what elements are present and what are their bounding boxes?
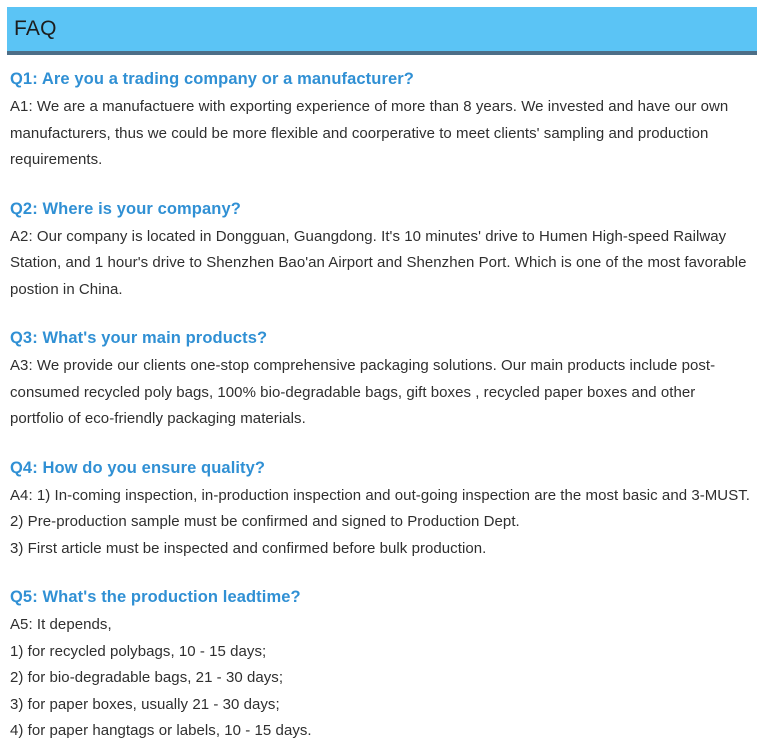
faq-header-band: FAQ — [7, 7, 757, 55]
faq-answer-line: 2) for bio-degradable bags, 21 - 30 days… — [10, 665, 752, 692]
faq-answer: A3: We provide our clients one-stop comp… — [10, 353, 752, 433]
faq-answer-line: 2) Pre-production sample must be confirm… — [10, 509, 752, 536]
faq-item: Q2: Where is your company?A2: Our compan… — [10, 198, 752, 304]
faq-answer-line: A1: We are a manufactuere with exporting… — [10, 94, 752, 174]
faq-item: Q4: How do you ensure quality?A4: 1) In-… — [10, 457, 752, 563]
faq-question: Q3: What's your main products? — [10, 327, 752, 349]
faq-answer-line: 4) for paper hangtags or labels, 10 - 15… — [10, 718, 752, 745]
faq-list: Q1: Are you a trading company or a manuf… — [10, 68, 752, 745]
faq-answer-line: A4: 1) In-coming inspection, in-producti… — [10, 483, 752, 510]
faq-answer: A2: Our company is located in Dongguan, … — [10, 224, 752, 304]
faq-question: Q5: What's the production leadtime? — [10, 586, 752, 608]
faq-item: Q3: What's your main products?A3: We pro… — [10, 327, 752, 433]
faq-item: Q5: What's the production leadtime?A5: I… — [10, 586, 752, 745]
faq-question: Q1: Are you a trading company or a manuf… — [10, 68, 752, 90]
faq-answer-line: A5: It depends, — [10, 612, 752, 639]
faq-item: Q1: Are you a trading company or a manuf… — [10, 68, 752, 174]
faq-answer: A5: It depends,1) for recycled polybags,… — [10, 612, 752, 745]
faq-page: FAQ Q1: Are you a trading company or a m… — [0, 0, 765, 748]
faq-answer-line: 1) for recycled polybags, 10 - 15 days; — [10, 639, 752, 666]
faq-answer-line: 3) for paper boxes, usually 21 - 30 days… — [10, 692, 752, 719]
faq-answer-line: 3) First article must be inspected and c… — [10, 536, 752, 563]
page-title: FAQ — [14, 16, 57, 42]
faq-question: Q4: How do you ensure quality? — [10, 457, 752, 479]
faq-answer-line: A3: We provide our clients one-stop comp… — [10, 353, 752, 433]
faq-answer: A1: We are a manufactuere with exporting… — [10, 94, 752, 174]
faq-question: Q2: Where is your company? — [10, 198, 752, 220]
faq-answer-line: A2: Our company is located in Dongguan, … — [10, 224, 752, 304]
faq-answer: A4: 1) In-coming inspection, in-producti… — [10, 483, 752, 563]
